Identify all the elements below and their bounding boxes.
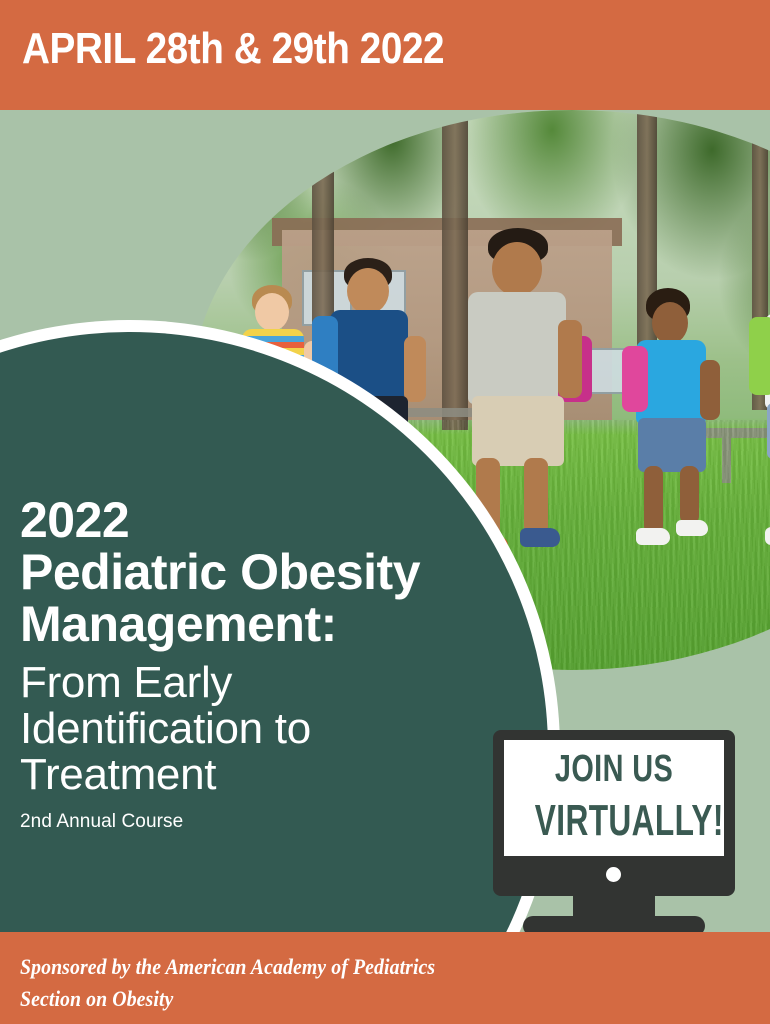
child-arm <box>558 320 582 398</box>
virtually-text: VIRTUALLY! <box>535 796 693 846</box>
monitor-icon: JOIN US VIRTUALLY! <box>493 730 735 896</box>
sponsor-line-2: Section on Obesity <box>20 986 173 1012</box>
title-year: 2022 <box>20 494 500 546</box>
child-head <box>492 242 542 296</box>
child-arm <box>404 336 426 402</box>
child-shorts <box>638 418 706 472</box>
child-figure <box>622 288 752 568</box>
monitor-bezel-dot <box>606 867 621 882</box>
title-sub-line1: From Early <box>20 660 500 706</box>
child-head <box>347 268 389 314</box>
title-main-line2: Management: <box>20 598 500 650</box>
child-backpack <box>622 346 648 412</box>
title-sub-line2: Identification to <box>20 706 500 752</box>
child-arm <box>700 360 720 420</box>
child-leg <box>680 466 699 524</box>
header-band: APRIL 28th & 29th 2022 <box>0 0 770 110</box>
sponsor-line-1: Sponsored by the American Academy of Ped… <box>20 954 435 980</box>
child-shorts <box>472 396 564 466</box>
child-backpack <box>749 317 770 395</box>
footer-band: Sponsored by the American Academy of Ped… <box>0 932 770 1024</box>
course-annual-label: 2nd Annual Course <box>20 811 500 833</box>
child-head <box>255 293 289 331</box>
monitor-screen: JOIN US VIRTUALLY! <box>504 740 724 856</box>
title-block: 2022 Pediatric Obesity Management: From … <box>20 494 500 833</box>
child-shoe <box>520 528 560 547</box>
title-sub-line3: Treatment <box>20 752 500 798</box>
join-us-text: JOIN US <box>530 748 697 791</box>
child-shoe <box>636 528 670 545</box>
child-shoe <box>676 520 708 536</box>
event-date: APRIL 28th & 29th 2022 <box>22 27 444 71</box>
child-torso <box>468 292 566 404</box>
child-leg <box>524 458 548 534</box>
title-main-line1: Pediatric Obesity <box>20 546 500 598</box>
child-leg <box>644 466 663 534</box>
child-shoe <box>765 527 770 545</box>
child-head <box>652 302 688 344</box>
flyer-canvas: APRIL 28th & 29th 2022 2022 Pediatric Ob… <box>0 0 770 1024</box>
child-figure <box>747 255 770 565</box>
